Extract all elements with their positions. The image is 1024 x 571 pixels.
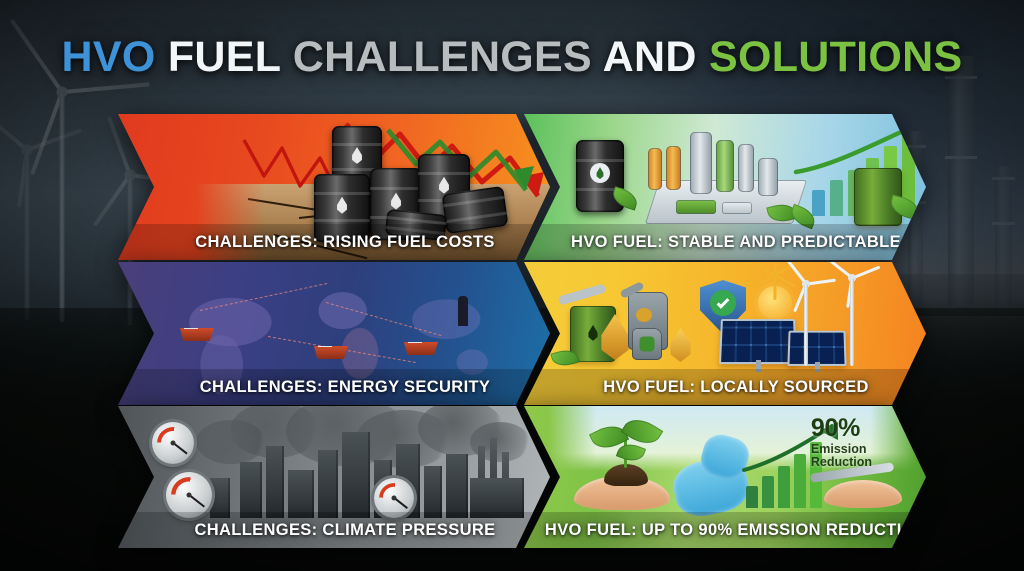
kpi-label-line2: Reduction [811, 456, 872, 469]
wind-turbine-icon [52, 92, 72, 322]
title-part-fuel: FUEL [156, 33, 293, 81]
title-part-solutions: SOLUTIONS [709, 33, 963, 81]
title-part-and: AND [592, 33, 709, 81]
kpi-label-line1: Emission [811, 443, 872, 456]
oil-droplet-icon [668, 328, 693, 362]
wind-turbine-icon [842, 278, 862, 366]
refinery-tower-icon [948, 56, 974, 306]
plant-column [738, 144, 754, 192]
plant-column [648, 148, 662, 190]
chart-bar [812, 190, 825, 216]
title-part-hvo: HVO [61, 33, 155, 81]
row-fuel-costs: CHALLENGES: RISING FUEL COSTS [118, 114, 926, 260]
caption-challenges-energy-security: CHALLENGES: ENERGY SECURITY [118, 369, 550, 405]
caption-hvo-emission-reduction: HVO FUEL: UP TO 90% EMISSION REDUCTION [524, 512, 926, 548]
kpi-emission-reduction: 90% Emission Reduction [811, 416, 872, 468]
panel-hvo-locally-sourced[interactable]: HVO FUEL: LOCALLY SOURCED [524, 262, 926, 405]
panel-hvo-stable-predictable[interactable]: HVO FUEL: STABLE AND PREDICTABLE [524, 114, 926, 260]
plant-unit [676, 200, 716, 214]
plant-column [690, 132, 712, 194]
cargo-ship-icon [314, 346, 348, 359]
row-climate-pressure: CHALLENGES: CLIMATE PRESSURE [118, 406, 926, 548]
chart-bar [746, 486, 758, 508]
silhouette-figure [458, 296, 468, 326]
wind-turbine-icon [796, 284, 816, 366]
wind-turbine-icon [20, 150, 34, 320]
plant-unit [722, 202, 752, 214]
title-part-challenges: CHALLENGES [293, 33, 592, 81]
plant-column [716, 140, 734, 192]
fuel-nozzle-icon [558, 284, 607, 306]
caption-hvo-locally-sourced: HVO FUEL: LOCALLY SOURCED [524, 369, 926, 405]
row-energy-security: CHALLENGES: ENERGY SECURITY [118, 262, 926, 405]
caption-challenges-climate-pressure: CHALLENGES: CLIMATE PRESSURE [118, 512, 550, 548]
caption-hvo-stable-predictable: HVO FUEL: STABLE AND PREDICTABLE [524, 224, 926, 260]
page-title: HVO FUEL CHALLENGES AND SOLUTIONS [0, 33, 1024, 82]
kpi-value: 90% [811, 416, 872, 441]
chart-bar [762, 476, 774, 508]
pressure-gauge-icon [152, 422, 194, 464]
panel-challenges-climate-pressure[interactable]: CHALLENGES: CLIMATE PRESSURE [118, 406, 550, 548]
solar-panel-icon [719, 319, 797, 364]
plant-tank [758, 158, 778, 196]
caption-challenges-fuel-costs: CHALLENGES: RISING FUEL COSTS [118, 224, 550, 260]
hand-icon [824, 480, 902, 508]
chart-bar [830, 180, 843, 216]
cargo-ship-icon [180, 328, 214, 341]
panel-challenges-fuel-costs[interactable]: CHALLENGES: RISING FUEL COSTS [118, 114, 550, 260]
cargo-ship-icon [404, 342, 438, 355]
plant-column [666, 146, 681, 190]
jerrycan-small-icon [632, 328, 662, 360]
panel-hvo-emission-reduction[interactable]: 90% Emission Reduction HVO FUEL: UP TO 9… [524, 406, 926, 548]
infographic-canvas: HVO FUEL CHALLENGES AND SOLUTIONS [0, 0, 1024, 571]
panel-challenges-energy-security[interactable]: CHALLENGES: ENERGY SECURITY [118, 262, 550, 405]
